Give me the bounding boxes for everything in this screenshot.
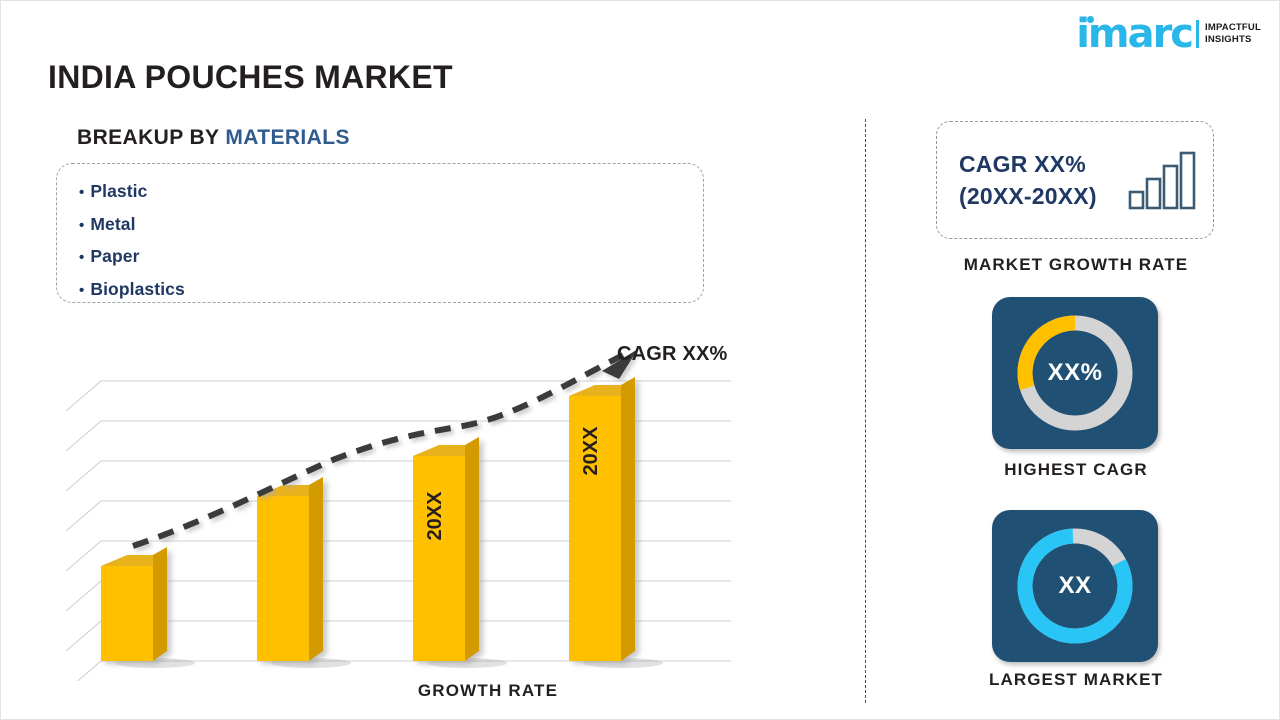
list-item: •Metal bbox=[79, 209, 703, 242]
caption-highest-cagr: HIGHEST CAGR bbox=[926, 460, 1226, 480]
segment-label: Plastic bbox=[90, 181, 147, 201]
bar-chart-icon bbox=[1127, 149, 1199, 211]
logo-tagline-line1: IMPACTFUL bbox=[1205, 22, 1261, 34]
segment-label: Paper bbox=[90, 246, 139, 266]
cagr-trend-line bbox=[133, 349, 638, 546]
list-item: •Bioplastics bbox=[79, 274, 703, 307]
market-growth-rate-box: CAGR XX% (20XX-20XX) bbox=[936, 121, 1214, 239]
breakup-heading: BREAKUP BY MATERIALS bbox=[77, 126, 350, 150]
caption-largest-market: LARGEST MARKET bbox=[926, 670, 1226, 690]
page-title: INDIA POUCHES MARKET bbox=[48, 59, 453, 96]
bar-column bbox=[413, 437, 479, 661]
highest-cagr-tile: XX% bbox=[992, 297, 1158, 449]
largest-market-value: XX bbox=[992, 510, 1158, 662]
logo-tagline-line2: INSIGHTS bbox=[1205, 34, 1261, 46]
bullet-icon: • bbox=[79, 184, 84, 201]
breakup-heading-prefix: BREAKUP BY bbox=[77, 126, 225, 149]
bullet-icon: • bbox=[79, 249, 84, 266]
bar-value-label: 20XX bbox=[424, 491, 446, 541]
list-item: •Plastic bbox=[79, 176, 703, 209]
bar-column bbox=[101, 547, 167, 661]
chart-axis-label: GROWTH RATE bbox=[348, 681, 628, 701]
infographic-page: imarc IMPACTFUL INSIGHTS INDIA POUCHES M… bbox=[0, 0, 1280, 720]
segment-label: Bioplastics bbox=[90, 279, 184, 299]
cagr-box-line1: CAGR XX% bbox=[959, 148, 1127, 180]
imarc-logo: imarc IMPACTFUL INSIGHTS bbox=[1076, 15, 1261, 53]
logo-tagline: IMPACTFUL INSIGHTS bbox=[1205, 22, 1261, 46]
chart-svg: 20XX 20XX bbox=[63, 341, 743, 681]
bar-value-label: 20XX bbox=[580, 426, 602, 476]
caption-market-growth-rate: MARKET GROWTH RATE bbox=[926, 255, 1226, 275]
logo-dot-icon bbox=[1087, 16, 1094, 23]
bullet-icon: • bbox=[79, 217, 84, 234]
growth-rate-chart: 20XX 20XX CAGR XX% GROWTH RATE bbox=[63, 341, 743, 686]
cagr-box-line2: (20XX-20XX) bbox=[959, 180, 1127, 212]
bullet-icon: • bbox=[79, 282, 84, 299]
cagr-box-text: CAGR XX% (20XX-20XX) bbox=[959, 148, 1127, 212]
highest-cagr-value: XX% bbox=[992, 297, 1158, 449]
cagr-trend-label: CAGR XX% bbox=[617, 343, 728, 366]
list-item: •Paper bbox=[79, 241, 703, 274]
panel-divider bbox=[865, 119, 866, 703]
bar-column bbox=[569, 377, 635, 661]
segments-box: •Plastic •Metal •Paper •Bioplastics bbox=[56, 163, 704, 303]
breakup-heading-accent: MATERIALS bbox=[225, 126, 350, 149]
largest-market-tile: XX bbox=[992, 510, 1158, 662]
logo-divider bbox=[1196, 20, 1199, 48]
segment-label: Metal bbox=[90, 214, 135, 234]
bar-column bbox=[257, 477, 323, 661]
